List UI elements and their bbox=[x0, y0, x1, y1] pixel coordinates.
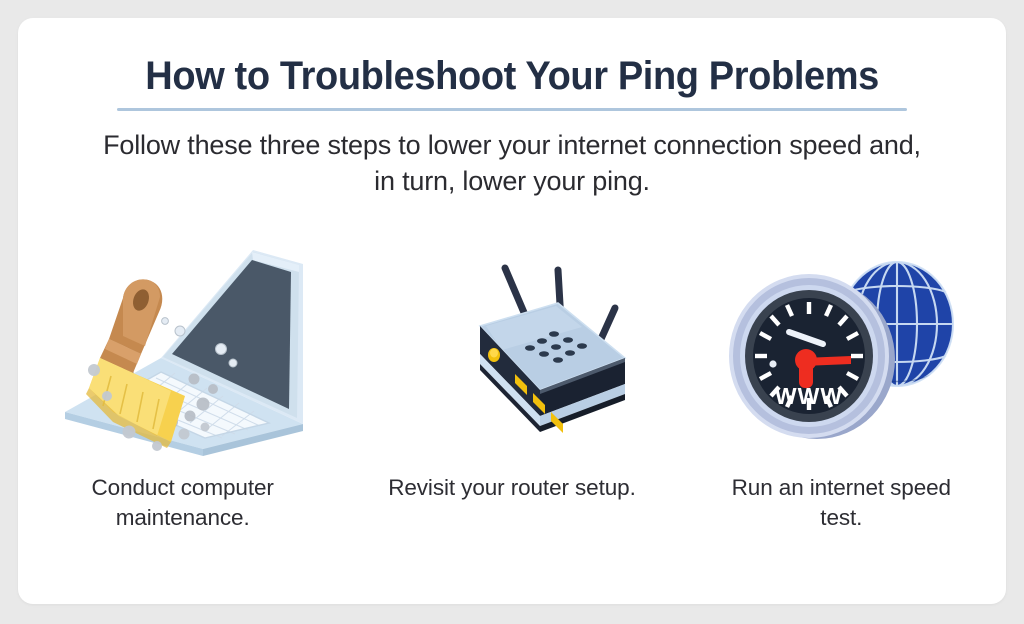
step-caption: Conduct computer maintenance. bbox=[58, 473, 308, 533]
infographic-card: How to Troubleshoot Your Ping Problems F… bbox=[18, 18, 1006, 604]
wifi-router-icon bbox=[382, 246, 642, 461]
steps-row: Conduct computer maintenance. bbox=[18, 246, 1006, 533]
title-underline-rule bbox=[117, 108, 907, 111]
laptop-with-cleaning-brush-icon bbox=[53, 246, 313, 461]
step-item-internet-speed-test: WWW Run an internet speed test. bbox=[686, 246, 996, 533]
step-item-computer-maintenance: Conduct computer maintenance. bbox=[28, 246, 338, 533]
gauge-www-label: WWW bbox=[775, 383, 843, 409]
page-subtitle: Follow these three steps to lower your i… bbox=[97, 128, 927, 200]
page-title-wrapper: How to Troubleshoot Your Ping Problems bbox=[18, 54, 1006, 99]
step-caption: Run an internet speed test. bbox=[716, 473, 966, 533]
step-caption: Revisit your router setup. bbox=[388, 473, 636, 503]
step-item-router-setup: Revisit your router setup. bbox=[357, 246, 667, 503]
header-block: How to Troubleshoot Your Ping Problems F… bbox=[18, 54, 1006, 200]
page-title: How to Troubleshoot Your Ping Problems bbox=[145, 54, 879, 99]
speedometer-and-globe-icon: WWW bbox=[711, 246, 971, 461]
